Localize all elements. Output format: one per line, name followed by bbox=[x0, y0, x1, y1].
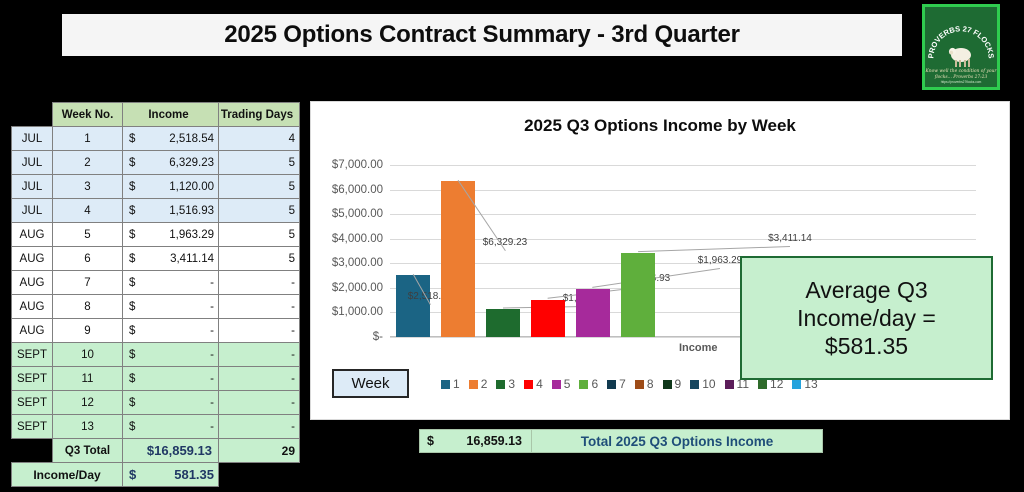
cell-week: 12 bbox=[53, 391, 123, 415]
chart-bar[interactable] bbox=[576, 289, 610, 337]
legend-label: 8 bbox=[647, 377, 654, 391]
cell-trading-days: - bbox=[219, 295, 300, 319]
table-income-per-day-row: Income/Day$581.35 bbox=[12, 463, 300, 487]
cell-trading-days: - bbox=[219, 415, 300, 439]
chart-ytick-label: $1,000.00 bbox=[332, 306, 383, 318]
table-row[interactable]: JUL3$1,120.005 bbox=[12, 175, 300, 199]
cell-trading-days: 5 bbox=[219, 199, 300, 223]
total-income-strip: $ 16,859.13 Total 2025 Q3 Options Income bbox=[419, 429, 823, 453]
total-income-value: 16,859.13 bbox=[466, 434, 522, 448]
cell-week: 6 bbox=[53, 247, 123, 271]
table-row[interactable]: SEPT11$-- bbox=[12, 367, 300, 391]
cell-income: $1,516.93 bbox=[123, 199, 219, 223]
cell-income: $- bbox=[123, 343, 219, 367]
legend-swatch bbox=[524, 380, 533, 389]
week-label: Week bbox=[351, 375, 389, 392]
legend-label: 4 bbox=[536, 377, 543, 391]
table-row[interactable]: SEPT10$-- bbox=[12, 343, 300, 367]
table-row[interactable]: SEPT12$-- bbox=[12, 391, 300, 415]
cell-trading-days: 5 bbox=[219, 151, 300, 175]
income-per-day-value: $581.35 bbox=[123, 463, 219, 487]
cell-income: $6,329.23 bbox=[123, 151, 219, 175]
cell-week: 4 bbox=[53, 199, 123, 223]
chart-ytick-label: $2,000.00 bbox=[332, 282, 383, 294]
cell-month: AUG bbox=[12, 247, 53, 271]
total-days-cell: 29 bbox=[219, 439, 300, 463]
cell-trading-days: 5 bbox=[219, 175, 300, 199]
cell-income: $- bbox=[123, 391, 219, 415]
sheep-icon bbox=[946, 43, 976, 69]
callout-line-1: Average Q3 bbox=[805, 276, 927, 304]
title-banner: 2025 Options Contract Summary - 3rd Quar… bbox=[62, 14, 902, 56]
chart-series-label: Income bbox=[679, 342, 718, 354]
cell-income: $- bbox=[123, 367, 219, 391]
chart-data-label: $6,329.23 bbox=[483, 237, 528, 248]
cell-month: SEPT bbox=[12, 415, 53, 439]
legend-item[interactable]: 8 bbox=[635, 377, 654, 391]
total-income-cell: $16,859.13 bbox=[123, 439, 219, 463]
table-row[interactable]: AUG6$3,411.145 bbox=[12, 247, 300, 271]
callout-line-2: Income/day = bbox=[797, 304, 936, 332]
chart-gridline bbox=[390, 190, 976, 191]
cell-week: 11 bbox=[53, 367, 123, 391]
legend-item[interactable]: 5 bbox=[552, 377, 571, 391]
table-row[interactable]: AUG5$1,963.295 bbox=[12, 223, 300, 247]
legend-label: 9 bbox=[675, 377, 682, 391]
cell-month: SEPT bbox=[12, 343, 53, 367]
cell-income: $- bbox=[123, 319, 219, 343]
cell-income: $- bbox=[123, 271, 219, 295]
legend-swatch bbox=[758, 380, 767, 389]
header-cell-income: Income bbox=[123, 103, 219, 127]
legend-swatch bbox=[663, 380, 672, 389]
cell-month: AUG bbox=[12, 295, 53, 319]
income-per-day-label: Income/Day bbox=[12, 463, 123, 487]
chart-gridline bbox=[390, 165, 976, 166]
cell-trading-days: 5 bbox=[219, 223, 300, 247]
total-income-amount: $ 16,859.13 bbox=[419, 429, 532, 453]
cell-week: 7 bbox=[53, 271, 123, 295]
page-title: 2025 Options Contract Summary - 3rd Quar… bbox=[224, 21, 740, 49]
cell-month: AUG bbox=[12, 223, 53, 247]
cell-income: $1,120.00 bbox=[123, 175, 219, 199]
cell-month: JUL bbox=[12, 175, 53, 199]
cell-trading-days: 4 bbox=[219, 127, 300, 151]
table-row[interactable]: AUG8$-- bbox=[12, 295, 300, 319]
chart-leader-line bbox=[638, 246, 790, 252]
legend-swatch bbox=[552, 380, 561, 389]
cell-month: JUL bbox=[12, 127, 53, 151]
chart-ytick-label: $- bbox=[373, 331, 383, 343]
cell-income: $2,518.54 bbox=[123, 127, 219, 151]
legend-item[interactable]: 7 bbox=[607, 377, 626, 391]
callout-line-3: $581.35 bbox=[825, 332, 908, 360]
perday-blank-cell bbox=[219, 463, 300, 487]
cell-month: SEPT bbox=[12, 367, 53, 391]
legend-swatch bbox=[607, 380, 616, 389]
chart-ytick-label: $4,000.00 bbox=[332, 233, 383, 245]
cell-month: AUG bbox=[12, 271, 53, 295]
header-cell-blank bbox=[12, 103, 53, 127]
table-row[interactable]: JUL1$2,518.544 bbox=[12, 127, 300, 151]
cell-week: 13 bbox=[53, 415, 123, 439]
legend-label: 6 bbox=[591, 377, 598, 391]
header-cell-days: Trading Days bbox=[219, 103, 300, 127]
legend-swatch bbox=[635, 380, 644, 389]
chart-data-label: $1,963.29 bbox=[698, 255, 743, 266]
chart-ytick-label: $5,000.00 bbox=[332, 208, 383, 220]
total-blank-cell bbox=[12, 439, 53, 463]
cell-week: 9 bbox=[53, 319, 123, 343]
income-table[interactable]: Week No.IncomeTrading DaysJUL1$2,518.544… bbox=[11, 102, 300, 487]
header-cell-week: Week No. bbox=[53, 103, 123, 127]
chart-gridline bbox=[390, 239, 976, 240]
cell-income: $3,411.14 bbox=[123, 247, 219, 271]
cell-week: 5 bbox=[53, 223, 123, 247]
legend-swatch bbox=[792, 380, 801, 389]
chart-bar[interactable] bbox=[621, 253, 655, 337]
cell-trading-days: - bbox=[219, 319, 300, 343]
table-row[interactable]: AUG7$-- bbox=[12, 271, 300, 295]
total-income-caption: Total 2025 Q3 Options Income bbox=[532, 429, 823, 453]
legend-label: 5 bbox=[564, 377, 571, 391]
chart-data-label: $3,411.14 bbox=[768, 233, 812, 244]
currency-symbol: $ bbox=[427, 434, 434, 448]
cell-month: JUL bbox=[12, 199, 53, 223]
legend-item[interactable]: 1 bbox=[441, 377, 460, 391]
legend-item[interactable]: 4 bbox=[524, 377, 543, 391]
cell-trading-days: - bbox=[219, 391, 300, 415]
cell-week: 3 bbox=[53, 175, 123, 199]
table-row[interactable]: JUL2$6,329.235 bbox=[12, 151, 300, 175]
legend-label: 2 bbox=[481, 377, 488, 391]
legend-label: 10 bbox=[702, 377, 715, 391]
cell-trading-days: - bbox=[219, 271, 300, 295]
legend-item[interactable]: 6 bbox=[579, 377, 598, 391]
legend-swatch bbox=[690, 380, 699, 389]
legend-item[interactable]: 9 bbox=[663, 377, 682, 391]
legend-swatch bbox=[469, 380, 478, 389]
legend-item[interactable]: 10 bbox=[690, 377, 715, 391]
cell-income: $- bbox=[123, 295, 219, 319]
chart-bar[interactable] bbox=[531, 300, 565, 337]
cell-month: AUG bbox=[12, 319, 53, 343]
table-header-row: Week No.IncomeTrading Days bbox=[12, 103, 300, 127]
chart-ytick-label: $3,000.00 bbox=[332, 257, 383, 269]
cell-month: JUL bbox=[12, 151, 53, 175]
average-income-callout: Average Q3 Income/day = $581.35 bbox=[740, 256, 993, 380]
cell-week: 2 bbox=[53, 151, 123, 175]
cell-income: $1,963.29 bbox=[123, 223, 219, 247]
legend-swatch bbox=[441, 380, 450, 389]
cell-income: $- bbox=[123, 415, 219, 439]
legend-label: 1 bbox=[453, 377, 460, 391]
chart-leader-line bbox=[593, 268, 720, 288]
chart-bar[interactable] bbox=[396, 275, 430, 337]
legend-swatch bbox=[579, 380, 588, 389]
table-total-row: Q3 Total$16,859.1329 bbox=[12, 439, 300, 463]
cell-week: 10 bbox=[53, 343, 123, 367]
table-row[interactable]: AUG9$-- bbox=[12, 319, 300, 343]
cell-week: 1 bbox=[53, 127, 123, 151]
logo-url: https://proverbs27flocks.com bbox=[925, 80, 997, 84]
table-row[interactable]: SEPT13$-- bbox=[12, 415, 300, 439]
legend-label: 3 bbox=[508, 377, 515, 391]
brand-logo: PROVERBS 27 FLOCKS Know well the conditi… bbox=[922, 4, 1000, 90]
total-label: Q3 Total bbox=[53, 439, 123, 463]
chart-bar[interactable] bbox=[441, 181, 475, 337]
slide-canvas: 2025 Options Contract Summary - 3rd Quar… bbox=[0, 0, 1024, 492]
chart-gridline bbox=[390, 214, 976, 215]
cell-trading-days: - bbox=[219, 343, 300, 367]
legend-item[interactable]: 2 bbox=[469, 377, 488, 391]
cell-month: SEPT bbox=[12, 391, 53, 415]
legend-item[interactable]: 3 bbox=[496, 377, 515, 391]
chart-title: 2025 Q3 Options Income by Week bbox=[311, 116, 1009, 136]
legend-label: 7 bbox=[619, 377, 626, 391]
cell-trading-days: 5 bbox=[219, 247, 300, 271]
chart-xaxis-title-week: Week bbox=[332, 369, 409, 398]
legend-swatch bbox=[725, 380, 734, 389]
chart-ytick-label: $6,000.00 bbox=[332, 184, 383, 196]
cell-week: 8 bbox=[53, 295, 123, 319]
table-row[interactable]: JUL4$1,516.935 bbox=[12, 199, 300, 223]
cell-trading-days: - bbox=[219, 367, 300, 391]
legend-swatch bbox=[496, 380, 505, 389]
chart-bar[interactable] bbox=[486, 309, 520, 337]
chart-ytick-label: $7,000.00 bbox=[332, 159, 383, 171]
